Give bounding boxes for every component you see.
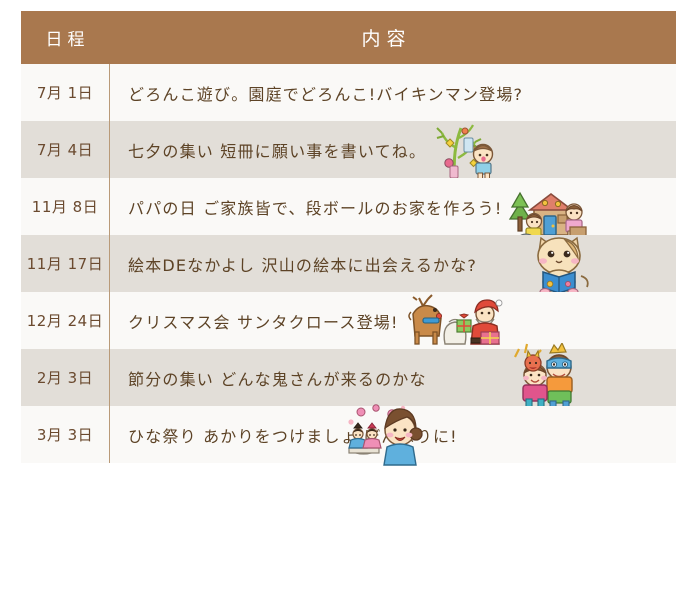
cell-content: どろんこ遊び。園庭でどろんこ!バイキンマン登場? [110, 64, 676, 121]
cell-date: 12月 24日 [21, 310, 109, 331]
cat-reading-book-icon [523, 232, 595, 296]
event-description: クリスマス会 サンタクロース登場! [110, 309, 399, 333]
table-row: 2月 3日節分の集い どんな鬼さんが来るのかな [21, 349, 676, 406]
cell-date: 3月 3日 [21, 424, 109, 445]
cell-content: 節分の集い どんな鬼さんが来るのかな [110, 349, 676, 406]
table-row: 12月 24日クリスマス会 サンタクロース登場! [21, 292, 676, 349]
event-description: 絵本DEなかよし 沢山の絵本に出会えるかな? [110, 252, 477, 276]
cell-content: 七夕の集い 短冊に願い事を書いてね。 [110, 121, 676, 178]
cell-date: 2月 3日 [21, 367, 109, 388]
cell-date: 11月 17日 [21, 253, 109, 274]
event-description: パパの日 ご家族皆で、段ボールのお家を作ろう! [110, 195, 502, 219]
cell-content: クリスマス会 サンタクロース登場! [110, 292, 676, 349]
table-body: 7月 1日どろんこ遊び。園庭でどろんこ!バイキンマン登場?7月 4日七夕の集い … [21, 64, 676, 463]
column-header-content: 内容 [109, 24, 676, 51]
table-row: 7月 4日七夕の集い 短冊に願い事を書いてね。 [21, 121, 676, 178]
table-row: 7月 1日どろんこ遊び。園庭でどろんこ!バイキンマン登場? [21, 64, 676, 121]
tanabata-bamboo-child-icon [425, 118, 503, 182]
table-row: 3月 3日ひな祭り あかりをつけましょ ぼんぼりに! [21, 406, 676, 463]
table-header-row: 日程 内容 [21, 11, 676, 64]
cardboard-house-children-icon [498, 173, 590, 241]
event-description: どろんこ遊び。園庭でどろんこ!バイキンマン登場? [110, 81, 523, 105]
cell-content: 絵本DEなかよし 沢山の絵本に出会えるかな? [110, 235, 676, 292]
cell-date: 11月 8日 [21, 196, 109, 217]
cell-date: 7月 1日 [21, 82, 109, 103]
setsubun-oni-children-icon [505, 343, 589, 413]
schedule-table: 日程 内容 7月 1日どろんこ遊び。園庭でどろんこ!バイキンマン登場?7月 4日… [21, 11, 676, 463]
event-description: ひな祭り あかりをつけましょ ぼんぼりに! [110, 423, 458, 447]
table-row: 11月 17日絵本DEなかよし 沢山の絵本に出会えるかな? [21, 235, 676, 292]
table-row: 11月 8日パパの日 ご家族皆で、段ボールのお家を作ろう! [21, 178, 676, 235]
santa-reindeer-icon [405, 292, 509, 350]
cell-date: 7月 4日 [21, 139, 109, 160]
cell-content: ひな祭り あかりをつけましょ ぼんぼりに! [110, 406, 676, 463]
column-header-date: 日程 [21, 25, 109, 50]
event-description: 七夕の集い 短冊に願い事を書いてね。 [110, 138, 426, 162]
cell-content: パパの日 ご家族皆で、段ボールのお家を作ろう! [110, 178, 676, 235]
event-description: 節分の集い どんな鬼さんが来るのかな [110, 366, 427, 390]
